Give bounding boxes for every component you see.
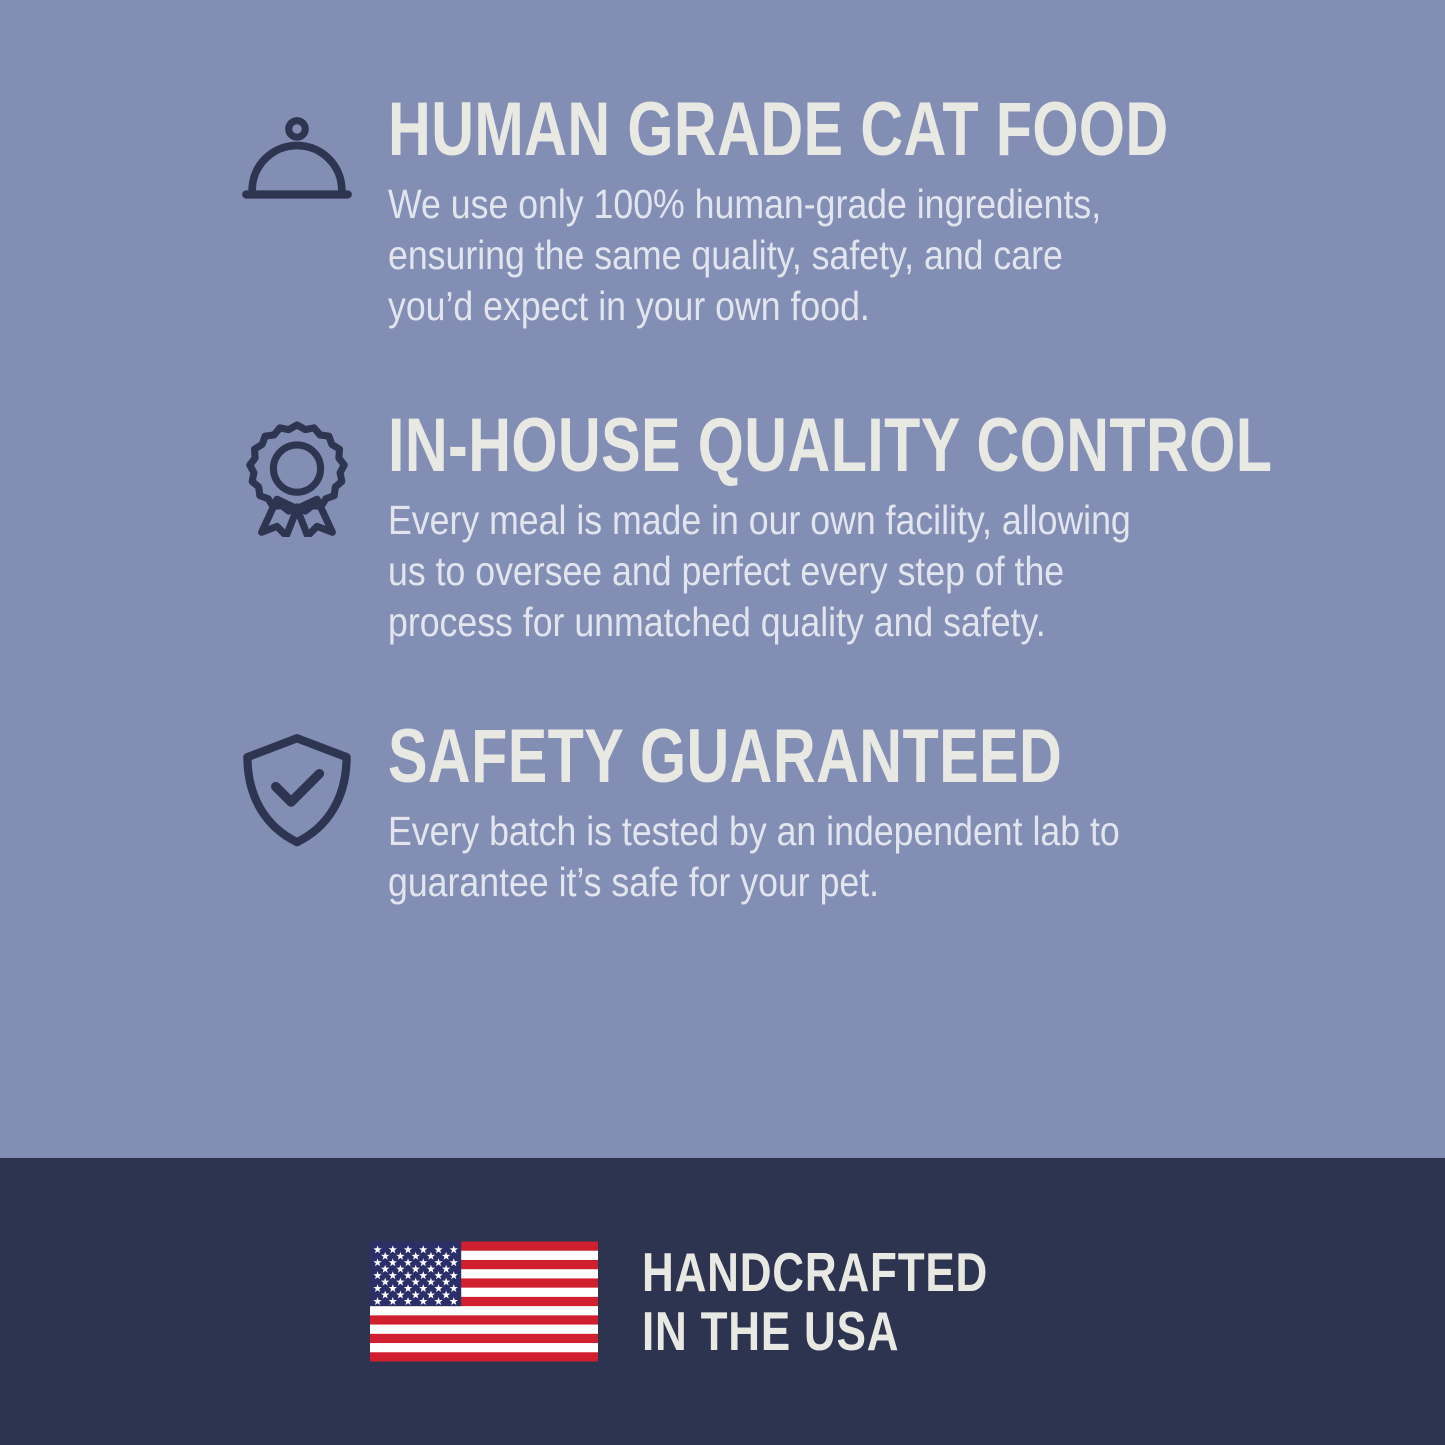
feature-description: We use only 100% human-grade ingredients… — [388, 179, 1134, 333]
shield-check-icon — [238, 730, 356, 848]
feature-heading: HUMAN GRADE CAT FOOD — [388, 95, 1056, 165]
award-rosette-icon — [238, 419, 356, 537]
feature-item-safety-guaranteed: SAFETY GUARANTEED Every batch is tested … — [0, 722, 1445, 908]
feature-body: IN-HOUSE QUALITY CONTROL Every meal is m… — [388, 411, 1245, 649]
feature-item-human-grade-cat-food: HUMAN GRADE CAT FOOD We use only 100% hu… — [0, 95, 1445, 333]
footer-banner: HANDCRAFTED IN THE USA — [0, 1158, 1445, 1445]
footer-tagline-line-1: HANDCRAFTED — [642, 1243, 988, 1301]
feature-heading: IN-HOUSE QUALITY CONTROL — [388, 411, 1056, 481]
feature-item-in-house-quality-control: IN-HOUSE QUALITY CONTROL Every meal is m… — [0, 411, 1445, 649]
feature-body: SAFETY GUARANTEED Every batch is tested … — [388, 722, 1245, 908]
feature-heading: SAFETY GUARANTEED — [388, 722, 1056, 792]
footer-tagline: HANDCRAFTED IN THE USA — [642, 1243, 988, 1360]
feature-description: Every batch is tested by an independent … — [388, 806, 1134, 909]
feature-promo-graphic: HUMAN GRADE CAT FOOD We use only 100% hu… — [0, 0, 1445, 1445]
feature-body: HUMAN GRADE CAT FOOD We use only 100% hu… — [388, 95, 1245, 333]
footer-tagline-line-2: IN THE USA — [642, 1302, 988, 1360]
feature-description: Every meal is made in our own facility, … — [388, 495, 1134, 649]
cloche-icon — [238, 103, 356, 221]
footer-content: HANDCRAFTED IN THE USA — [370, 1239, 1075, 1364]
usa-flag-icon — [370, 1239, 598, 1364]
features-list: HUMAN GRADE CAT FOOD We use only 100% hu… — [0, 0, 1445, 1158]
